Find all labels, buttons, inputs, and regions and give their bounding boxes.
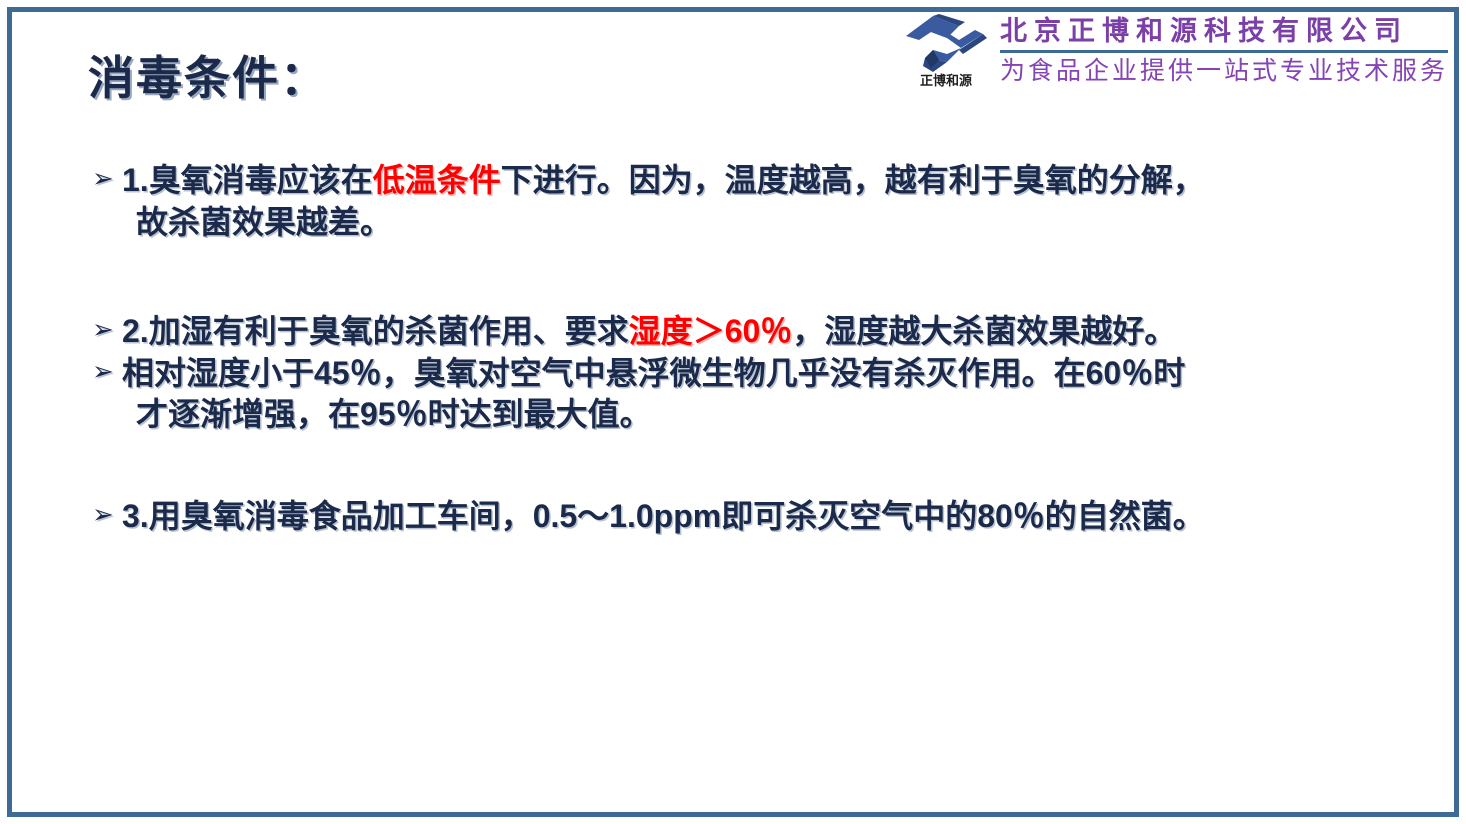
bullet-text-segment: 下进行。因为，温度越高，越有利于臭氧的分解， bbox=[501, 162, 1205, 198]
company-slogan: 为食品企业提供一站式专业技术服务 bbox=[1000, 57, 1448, 86]
slide-body: ➢ 1.臭氧消毒应该在低温条件下进行。因为，温度越高，越有利于臭氧的分解， 故杀… bbox=[92, 160, 1422, 538]
bullet-line: ➢ 相对湿度小于45％，臭氧对空气中悬浮微生物几乎没有杀灭作用。在60％时 bbox=[92, 353, 1422, 395]
bullet-item-2: ➢ 2.加湿有利于臭氧的杀菌作用、要求湿度＞60％，湿度越大杀菌效果越好。 bbox=[92, 311, 1422, 353]
bullet-line: ➢ 1.臭氧消毒应该在低温条件下进行。因为，温度越高，越有利于臭氧的分解， bbox=[92, 160, 1422, 202]
arrow-bullet-icon: ➢ bbox=[92, 496, 122, 533]
bullet-text: 3.用臭氧消毒食品加工车间，0.5～1.0ppm即可杀灭空气中的80％的自然菌。 bbox=[122, 496, 1422, 538]
bullet-text-segment: ，湿度越大杀菌效果越好。 bbox=[792, 313, 1176, 349]
highlight-humidity-threshold: 湿度＞60％ bbox=[629, 313, 793, 349]
bullet-line: ➢ 2.加湿有利于臭氧的杀菌作用、要求湿度＞60％，湿度越大杀菌效果越好。 bbox=[92, 311, 1422, 353]
section-spacer bbox=[92, 436, 1422, 496]
slide: 正博和源 北京正博和源科技有限公司 为食品企业提供一站式专业技术服务 消毒条件：… bbox=[0, 0, 1466, 824]
bullet-text: 相对湿度小于45％，臭氧对空气中悬浮微生物几乎没有杀灭作用。在60％时 bbox=[122, 353, 1422, 395]
company-name: 北京正博和源科技有限公司 bbox=[1000, 16, 1448, 47]
header-divider bbox=[1000, 50, 1448, 53]
bullet-text-segment: 2.加湿有利于臭氧的杀菌作用、要求 bbox=[122, 313, 629, 349]
bullet-text-segment: 1.臭氧消毒应该在 bbox=[122, 162, 373, 198]
company-header-text: 北京正博和源科技有限公司 为食品企业提供一站式专业技术服务 bbox=[1000, 12, 1448, 86]
highlight-low-temperature: 低温条件 bbox=[373, 162, 501, 198]
company-header: 正博和源 北京正博和源科技有限公司 为食品企业提供一站式专业技术服务 bbox=[898, 12, 1448, 88]
bullet-line: ➢ 3.用臭氧消毒食品加工车间，0.5～1.0ppm即可杀灭空气中的80％的自然… bbox=[92, 496, 1422, 538]
bullet-text: 故杀菌效果越差。 bbox=[136, 202, 392, 244]
bullet-item-4: ➢ 3.用臭氧消毒食品加工车间，0.5～1.0ppm即可杀灭空气中的80％的自然… bbox=[92, 496, 1422, 538]
bullet-continuation-line: 故杀菌效果越差。 bbox=[92, 202, 1422, 244]
bullet-text: 1.臭氧消毒应该在低温条件下进行。因为，温度越高，越有利于臭氧的分解， bbox=[122, 160, 1422, 202]
page-title: 消毒条件： bbox=[88, 42, 328, 108]
arrow-bullet-icon: ➢ bbox=[92, 311, 122, 348]
company-logo: 正博和源 bbox=[898, 12, 994, 88]
section-spacer bbox=[92, 243, 1422, 311]
bullet-item-3: ➢ 相对湿度小于45％，臭氧对空气中悬浮微生物几乎没有杀灭作用。在60％时 才逐… bbox=[92, 353, 1422, 436]
arrow-bullet-icon: ➢ bbox=[92, 160, 122, 197]
bullet-text: 才逐渐增强，在95％时达到最大值。 bbox=[136, 394, 652, 436]
logo-wordmark: 正博和源 bbox=[920, 75, 972, 88]
bullet-continuation-line: 才逐渐增强，在95％时达到最大值。 bbox=[92, 394, 1422, 436]
bullet-item-1: ➢ 1.臭氧消毒应该在低温条件下进行。因为，温度越高，越有利于臭氧的分解， 故杀… bbox=[92, 160, 1422, 243]
bullet-text: 2.加湿有利于臭氧的杀菌作用、要求湿度＞60％，湿度越大杀菌效果越好。 bbox=[122, 311, 1422, 353]
company-logo-icon bbox=[903, 14, 989, 76]
arrow-bullet-icon: ➢ bbox=[92, 353, 122, 390]
